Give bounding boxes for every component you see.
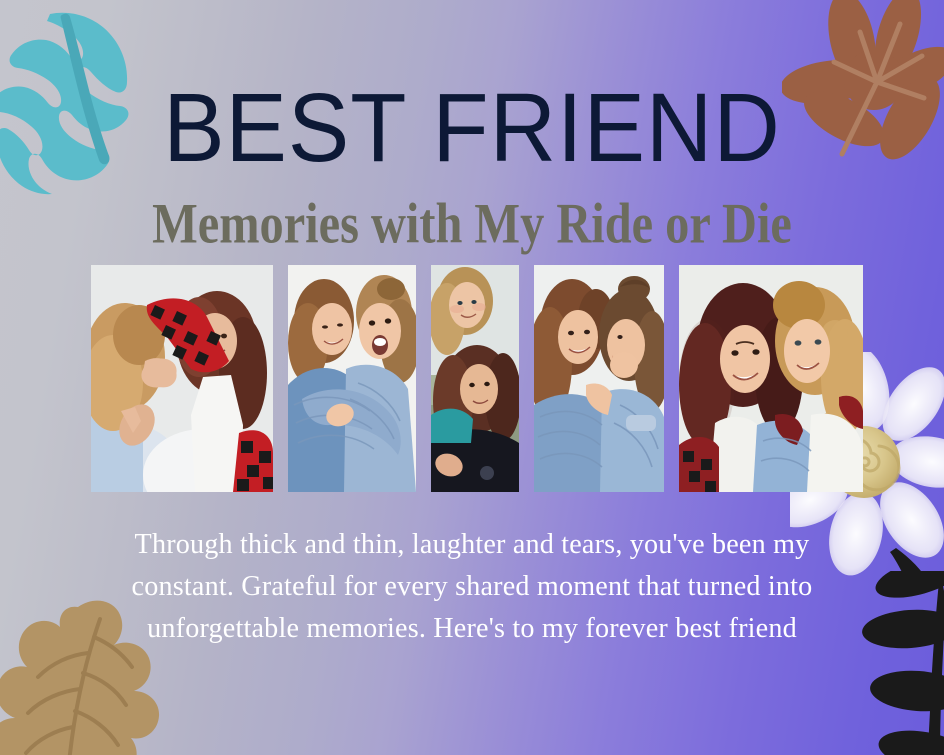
photo-1 — [91, 265, 273, 492]
photo-5 — [679, 265, 863, 492]
poster-canvas: BEST FRIEND Memories with My Ride or Die — [0, 0, 944, 755]
page-title: BEST FRIEND — [0, 79, 944, 177]
photo-4 — [534, 265, 664, 492]
body-paragraph: Through thick and thin, laughter and tea… — [84, 523, 860, 649]
photo-3 — [431, 265, 519, 492]
photo-2 — [288, 265, 416, 492]
photo-gallery — [91, 265, 855, 492]
page-subtitle: Memories with My Ride or Die — [33, 196, 911, 253]
